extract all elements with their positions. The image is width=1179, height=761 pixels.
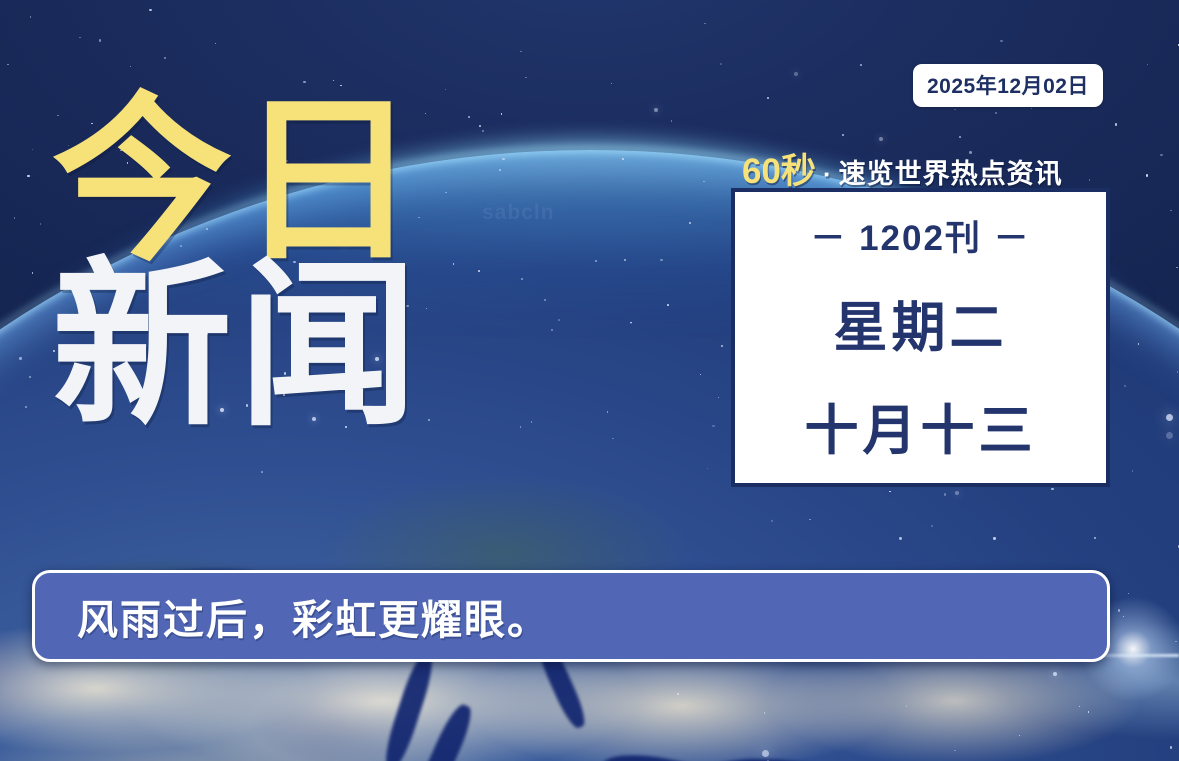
headline-line-today: 今日: [52, 96, 424, 269]
tagline-separator-icon: ·: [821, 159, 834, 190]
quote-banner: 风雨过后，彩虹更耀眼。: [32, 570, 1110, 662]
poster-canvas: sabcln 2025年12月02日 今日 新闻 60秒 · 速览世界热点资讯 …: [0, 0, 1179, 761]
tagline-seconds: 60秒: [742, 143, 816, 194]
headline-line-news: 新闻: [52, 261, 424, 434]
date-badge: 2025年12月02日: [913, 64, 1103, 107]
page-title: 今日 新闻: [52, 96, 424, 434]
tagline-text: 速览世界热点资讯: [839, 152, 1063, 191]
quote-banner-text: 风雨过后，彩虹更耀眼。: [77, 586, 550, 646]
card-weekday: 星期二: [834, 283, 1008, 362]
tagline: 60秒 · 速览世界热点资讯: [742, 143, 1063, 194]
card-issue-number: － 1202刊 －: [810, 210, 1030, 261]
watermark-text: sabcln: [482, 201, 555, 225]
card-lunar-date: 十月十三: [805, 386, 1037, 465]
calendar-card: － 1202刊 － 星期二 十月十三: [731, 188, 1110, 487]
